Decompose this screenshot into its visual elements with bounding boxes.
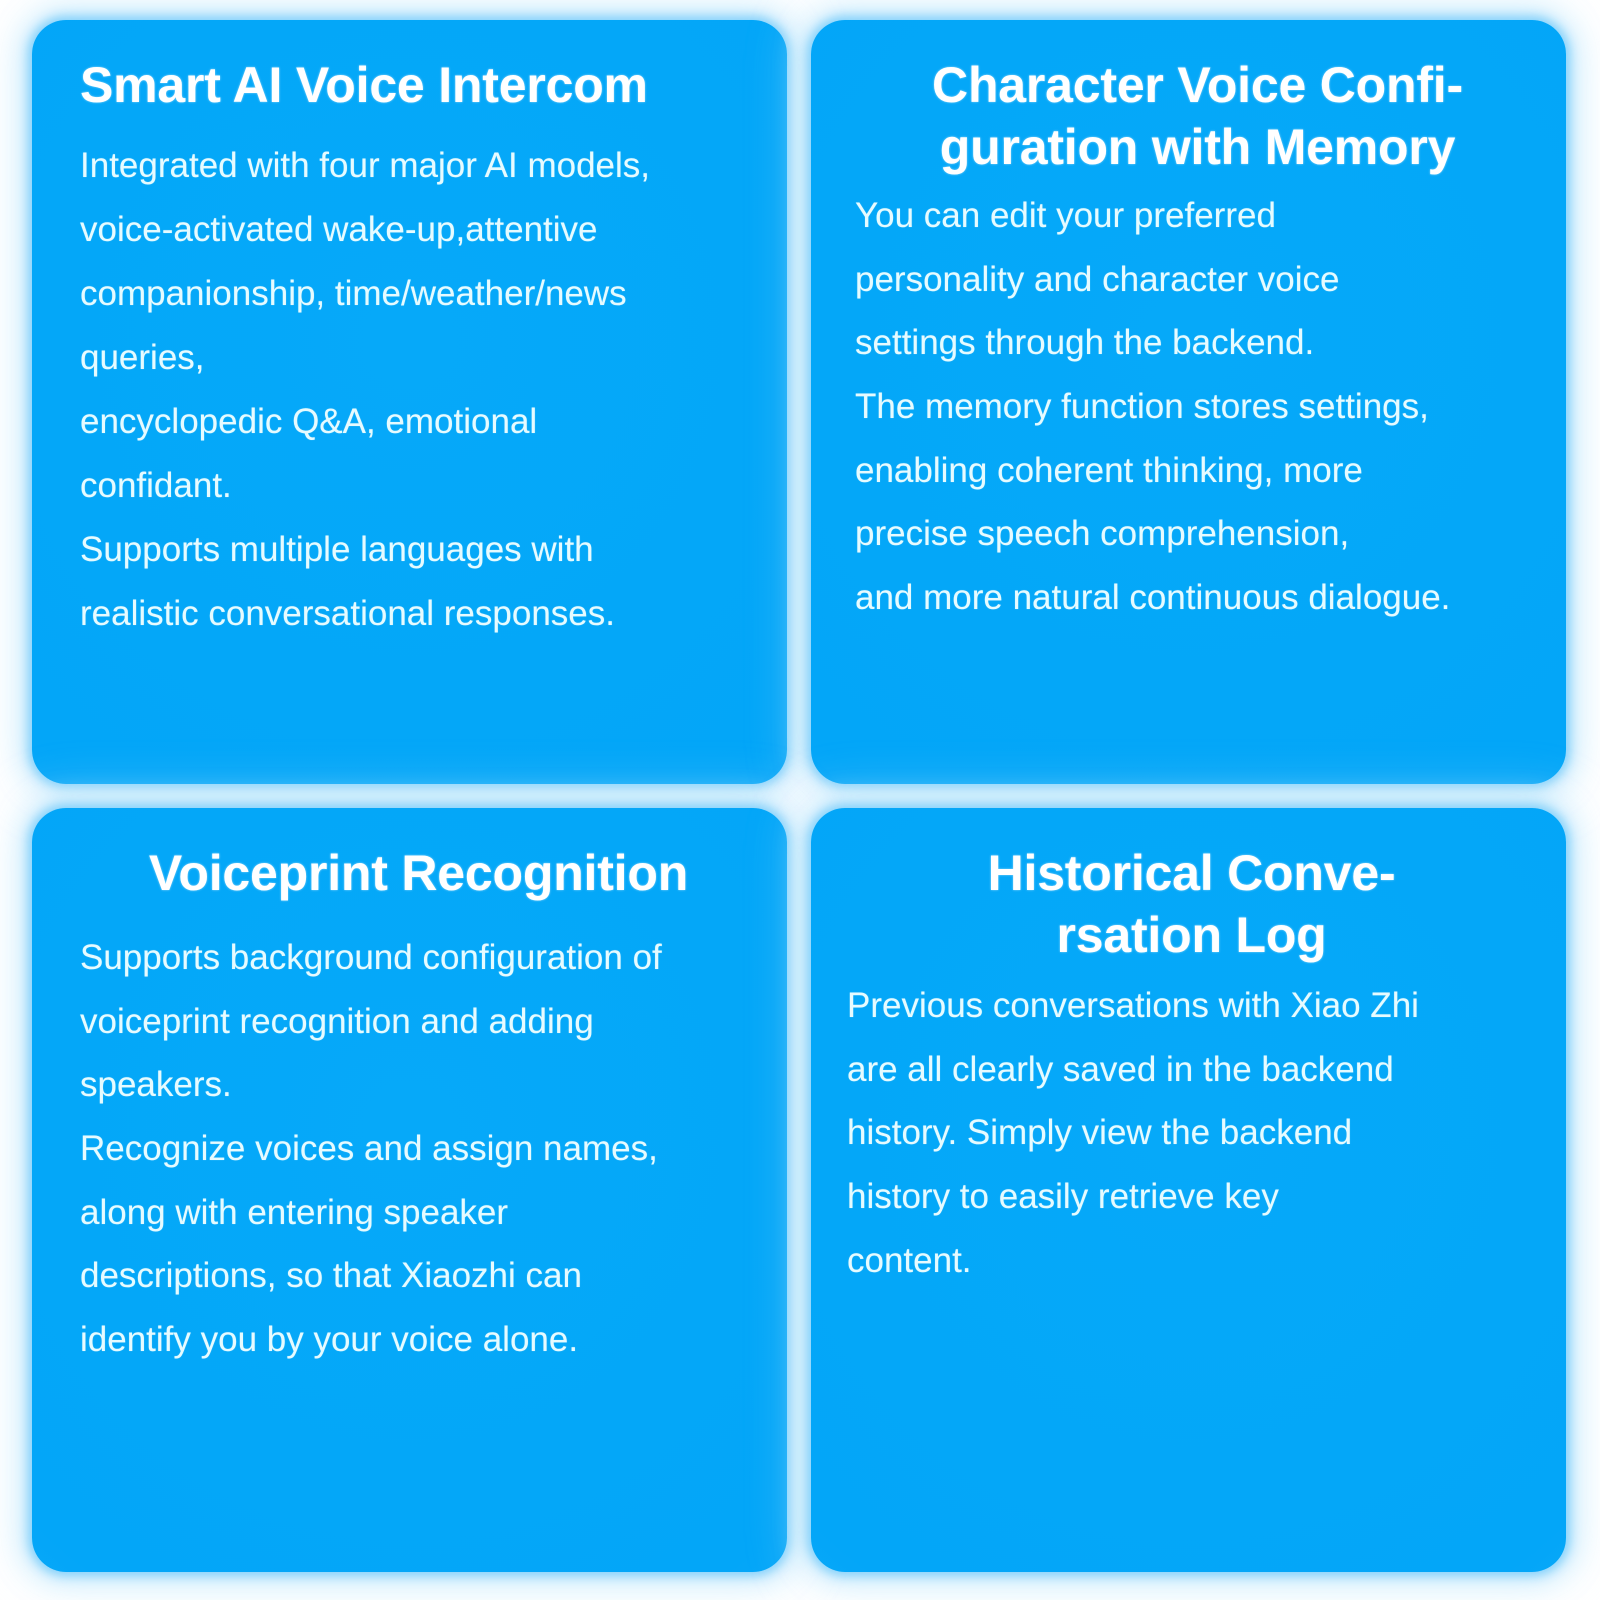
feature-card-title: Smart AI Voice Intercom bbox=[80, 54, 757, 116]
feature-card-smart-ai-voice-intercom[interactable]: Smart AI Voice Intercom Integrated with … bbox=[32, 20, 787, 784]
feature-card-description: Integrated with four major AI models, vo… bbox=[80, 134, 757, 646]
feature-card-historical-conversation-log[interactable]: Historical Conve- rsation Log Previous c… bbox=[811, 808, 1566, 1572]
feature-card-title: Historical Conve- rsation Log bbox=[847, 842, 1536, 966]
feature-card-description: Previous conversations with Xiao Zhi are… bbox=[847, 974, 1536, 1292]
feature-card-character-voice-configuration[interactable]: Character Voice Confi- guration with Mem… bbox=[811, 20, 1566, 784]
feature-card-description: Supports background configuration of voi… bbox=[80, 926, 757, 1372]
feature-card-voiceprint-recognition[interactable]: Voiceprint Recognition Supports backgrou… bbox=[32, 808, 787, 1572]
feature-card-title: Character Voice Confi- guration with Mem… bbox=[855, 54, 1540, 178]
feature-card-grid: Smart AI Voice Intercom Integrated with … bbox=[0, 0, 1600, 1600]
feature-card-title: Voiceprint Recognition bbox=[80, 842, 757, 904]
feature-card-description: You can edit your preferred personality … bbox=[855, 184, 1540, 630]
